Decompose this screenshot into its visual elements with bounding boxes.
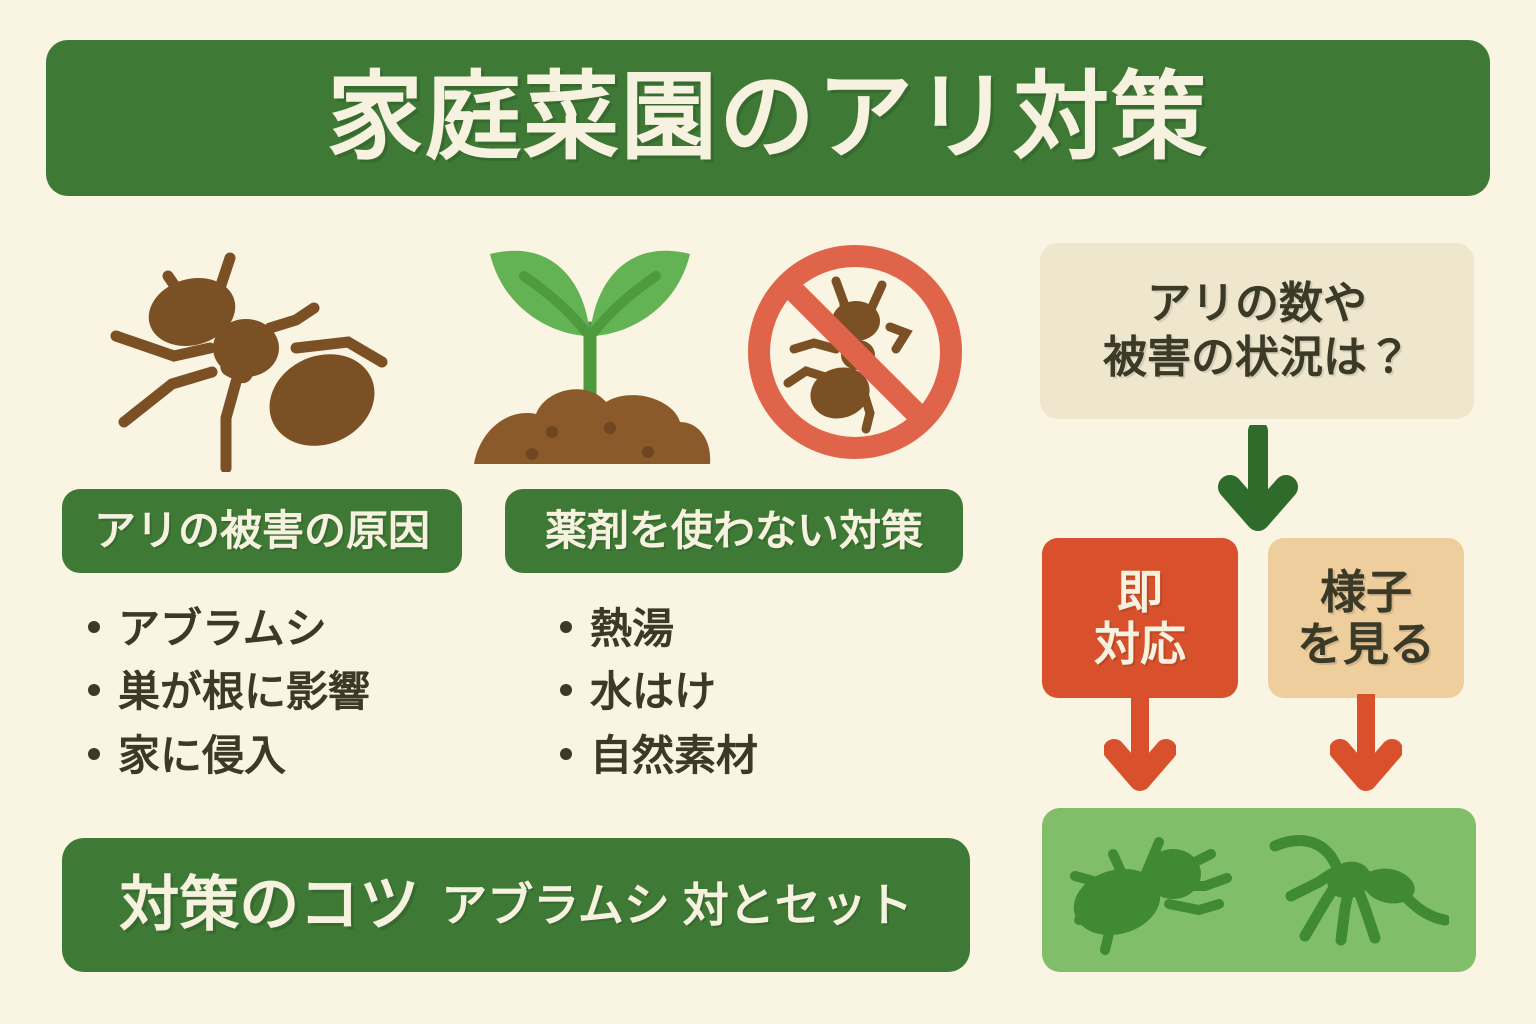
causes-list: アブラムシ 巣が根に影響 家に侵入 [88, 606, 488, 796]
list-item-label: 自然素材 [590, 733, 758, 778]
bullet-dot-icon [88, 684, 100, 696]
option-immediate-action-line-2: 対応 [1094, 618, 1186, 670]
methods-list: 熱湯 水はけ 自然素材 [560, 606, 960, 796]
option-wait-and-see-line-2: を見る [1297, 618, 1435, 670]
list-item: 自然素材 [560, 733, 960, 778]
section-header-causes-label: アリの被害の原因 [94, 510, 430, 552]
question-line-2: 被害の状況は？ [1103, 331, 1411, 385]
arrow-down-icon [1104, 694, 1176, 796]
insects-result-panel [1042, 808, 1476, 972]
section-header-methods-label: 薬剤を使わない対策 [545, 510, 923, 552]
list-item-label: 巣が根に影響 [118, 669, 370, 714]
option-immediate-action[interactable]: 即 対応 [1042, 538, 1238, 698]
bullet-dot-icon [88, 621, 100, 633]
title-banner: 家庭菜園のアリ対策 [46, 40, 1490, 196]
list-item: 水はけ [560, 669, 960, 714]
page-title: 家庭菜園のアリ対策 [327, 70, 1209, 166]
bullet-dot-icon [88, 748, 100, 760]
no-ants-icon [740, 232, 970, 472]
tip-banner-sub-label: アブラムシ 対とセット [441, 882, 912, 928]
illustration-row [60, 232, 990, 472]
bullet-dot-icon [560, 748, 572, 760]
beetle-silhouette-icon [1069, 824, 1259, 956]
option-wait-and-see[interactable]: 様子 を見る [1268, 538, 1464, 698]
bullet-dot-icon [560, 684, 572, 696]
tip-banner-main-label: 対策のコツ [119, 875, 419, 935]
option-immediate-action-line-1: 即 [1117, 566, 1163, 618]
section-header-causes: アリの被害の原因 [62, 489, 462, 573]
tip-banner: 対策のコツ アブラムシ 対とセット [62, 838, 970, 972]
ant-silhouette-icon [1269, 824, 1449, 956]
list-item: 熱湯 [560, 606, 960, 651]
section-header-methods: 薬剤を使わない対策 [505, 489, 963, 573]
list-item-label: アブラムシ [118, 606, 327, 651]
list-item-label: 熱湯 [590, 606, 674, 651]
bullet-dot-icon [560, 621, 572, 633]
seedling-icon [460, 232, 720, 472]
list-item: 巣が根に影響 [88, 669, 488, 714]
list-item-label: 水はけ [590, 669, 716, 714]
arrow-down-icon [1218, 425, 1298, 533]
list-item: アブラムシ [88, 606, 488, 651]
question-box: アリの数や 被害の状況は？ [1040, 243, 1474, 419]
list-item-label: 家に侵入 [118, 733, 286, 778]
arrow-down-icon [1330, 694, 1402, 796]
option-wait-and-see-line-1: 様子 [1320, 566, 1412, 618]
infographic-canvas: 家庭菜園のアリ対策 [0, 0, 1536, 1024]
list-item: 家に侵入 [88, 733, 488, 778]
ant-icon [100, 232, 400, 472]
question-line-1: アリの数や [1147, 277, 1367, 331]
